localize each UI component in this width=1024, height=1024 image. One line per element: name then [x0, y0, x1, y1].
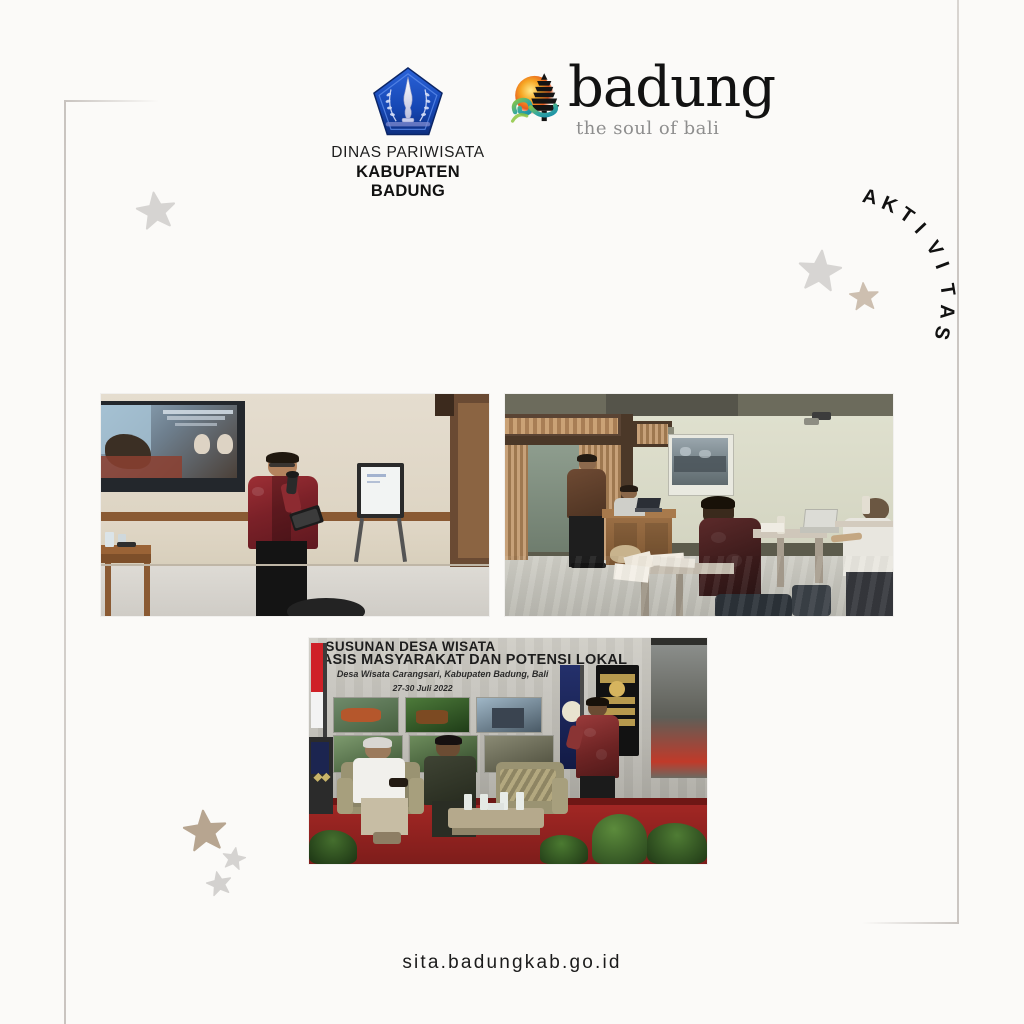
photo-meeting-room-presentation: [505, 394, 893, 616]
badung-tagline: the soul of bali: [576, 118, 719, 139]
dinas-line-1: DINAS PARIWISATA: [318, 144, 498, 162]
dinas-pariwisata-logo: DINAS PARIWISATA KABUPATEN BADUNG: [318, 65, 498, 201]
aktivitas-letter: I: [909, 219, 930, 239]
star-top-right-small-icon: [848, 280, 880, 312]
badung-brand-logo: badung the soul of bali: [508, 70, 763, 150]
photo-speaker-with-microphone: [101, 394, 489, 616]
star-bottom-left-large-icon: [181, 806, 229, 854]
website-url: sita.badungkab.go.id: [0, 952, 1024, 974]
banner-title-line2: BASIS MASYARAKAT DAN POTENSI LOKAL: [311, 652, 637, 668]
star-top-right-large-icon: [796, 246, 844, 294]
aktivitas-letter: T: [934, 282, 959, 298]
aktivitas-letter: K: [878, 192, 900, 219]
aktivitas-letter: A: [860, 185, 879, 211]
aktivitas-letter: S: [929, 323, 955, 342]
dinas-line-2: KABUPATEN BADUNG: [318, 163, 498, 201]
aktivitas-letter: T: [894, 203, 917, 229]
aktivitas-label: AKTIVITAS AKTIVITAS: [780, 150, 980, 320]
star-top-left-icon: [133, 187, 178, 232]
badung-wordmark: badung: [568, 60, 775, 116]
banner-date: 27-30 Juli 2022: [393, 683, 552, 693]
star-bottom-left-small-icon: [204, 868, 235, 899]
poster-canvas: DINAS PARIWISATA KABUPATEN BADUNG: [0, 0, 1024, 1024]
badung-regency-emblem-icon: [371, 65, 445, 139]
photo-panel-discussion-stage: ...SUSUNAN DESA WISATA BASIS MASYARAKAT …: [309, 638, 707, 864]
frame-line-bottom: [862, 922, 959, 924]
frame-line-left: [64, 100, 66, 1024]
badung-meru-mark-icon: [508, 72, 574, 134]
aktivitas-letter: I: [929, 259, 952, 272]
aktivitas-letter: V: [921, 237, 948, 261]
aktivitas-letter: A: [934, 304, 958, 319]
